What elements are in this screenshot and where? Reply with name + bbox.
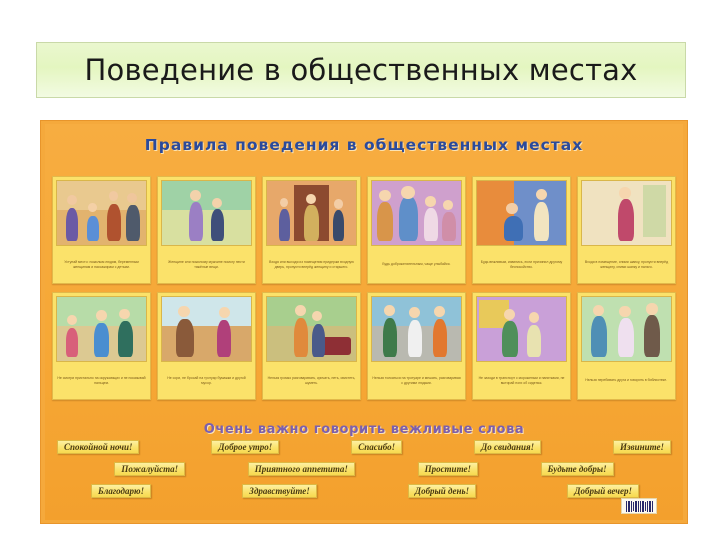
- art-figure-head: [646, 303, 658, 315]
- slide-title-box: Поведение в общественных местах: [36, 42, 686, 98]
- rule-card: Входя в помещение, сними шапку, пропусти…: [577, 176, 676, 284]
- barcode-bar: [640, 501, 641, 512]
- art-figure: [304, 205, 318, 241]
- rule-card: Не сори, не бросай на тротуар бумажки и …: [157, 292, 256, 400]
- polite-word-chip: Добрый день!: [408, 484, 476, 498]
- rule-card: Нельзя перебивать друга и говорить в биб…: [577, 292, 676, 400]
- art-figure-head: [67, 315, 77, 325]
- rule-caption: Не сори, не бросай на тротуар бумажки и …: [161, 362, 252, 399]
- art-figure: [66, 328, 78, 357]
- art-rack: [643, 185, 666, 237]
- rule-illustration: [581, 296, 672, 362]
- rule-caption-text: Уступай место: пожилым людям, беременным…: [57, 260, 146, 269]
- rule-caption: Женщине или пожилому мужчине помогу нест…: [161, 246, 252, 283]
- art-figure-head: [506, 203, 518, 215]
- polite-word-chip: Извините!: [613, 440, 671, 454]
- rule-illustration: [476, 296, 567, 362]
- rules-poster: Правила поведения в общественных местах: [40, 120, 688, 524]
- art-figure-head: [434, 306, 445, 317]
- rule-card: Не смотри пристально на окружающих и не …: [52, 292, 151, 400]
- rule-illustration: [161, 296, 252, 362]
- rule-card: Нельзя громко разговаривать, кричать, пе…: [262, 292, 361, 400]
- rule-illustration: [266, 296, 357, 362]
- art-figure-head: [306, 194, 316, 204]
- rule-caption-text: Женщине или пожилому мужчине помогу нест…: [162, 260, 251, 269]
- rule-caption-text: Не заходи в транспорт с мороженым и напи…: [477, 376, 566, 385]
- polite-words-heading: Очень важно говорить вежливые слова: [45, 420, 683, 438]
- barcode-bar: [638, 501, 639, 512]
- art-figure: [502, 321, 518, 357]
- barcode: [621, 498, 657, 514]
- polite-word-chip: До свидания!: [474, 440, 541, 454]
- art-figure: [591, 316, 607, 357]
- art-figure-head: [401, 186, 414, 199]
- art-figure-head: [295, 305, 306, 316]
- polite-word-chip: Добрый вечер!: [567, 484, 639, 498]
- art-background: [162, 181, 251, 210]
- art-figure: [279, 209, 290, 241]
- art-figure: [618, 318, 634, 358]
- art-figure: [217, 320, 231, 357]
- rule-caption-text: Нельзя толкаться на тротуаре и мешать, р…: [372, 376, 461, 385]
- art-figure: [527, 325, 541, 357]
- art-foreground: [162, 210, 251, 245]
- poster-inner: Правила поведения в общественных местах: [45, 124, 683, 520]
- barcode-bar: [645, 502, 646, 511]
- rule-caption-text: Будь доброжелательным, чаще улыбайся.: [382, 262, 450, 267]
- art-figure-head: [384, 305, 395, 316]
- rule-illustration: [266, 180, 357, 246]
- polite-words-heading-text: Очень важно говорить вежливые слова: [204, 422, 525, 437]
- polite-words-row-2: Пожалуйста! Приятного аппетита! Простите…: [55, 462, 673, 476]
- art-figure-head: [219, 307, 230, 318]
- art-figure: [176, 319, 194, 357]
- art-figure: [504, 216, 524, 242]
- polite-word-chip: Приятного аппетита!: [248, 462, 355, 476]
- rule-caption: Нельзя громко разговаривать, кричать, пе…: [266, 362, 357, 399]
- rule-caption: Будь доброжелательным, чаще улыбайся.: [371, 246, 462, 283]
- rule-illustration: [56, 180, 147, 246]
- polite-word-chip: Доброе утро!: [211, 440, 279, 454]
- art-figure: [383, 318, 397, 358]
- art-figure-head: [425, 196, 436, 206]
- rule-card: Входя или выходя из помещения придержи в…: [262, 176, 361, 284]
- page-title: Поведение в общественных местах: [85, 53, 638, 87]
- rule-caption-text: Нельзя громко разговаривать, кричать, пе…: [267, 376, 356, 385]
- rules-row-1: Уступай место: пожилым людям, беременным…: [52, 176, 676, 284]
- poster-heading-text: Правила поведения в общественных местах: [145, 136, 584, 154]
- slide: Поведение в общественных местах Правила …: [0, 0, 720, 540]
- art-figure: [87, 216, 99, 242]
- rule-illustration: [476, 180, 567, 246]
- barcode-bar: [635, 501, 637, 512]
- art-figure: [399, 196, 419, 241]
- polite-word-chip: Благодарю!: [91, 484, 151, 498]
- polite-words-row-1: Спокойной ночи! Доброе утро! Спасибо! До…: [55, 440, 673, 454]
- rule-caption: Входя или выходя из помещения придержи в…: [266, 246, 357, 283]
- art-figure-head: [443, 200, 453, 210]
- rule-caption: Уступай место: пожилым людям, беременным…: [56, 246, 147, 283]
- rule-card: Уступай место: пожилым людям, беременным…: [52, 176, 151, 284]
- art-background: [162, 297, 251, 326]
- rule-caption-text: Не смотри пристально на окружающих и не …: [57, 376, 146, 385]
- art-figure-head: [190, 190, 201, 201]
- barcode-bar: [633, 502, 634, 511]
- art-figure-head: [280, 198, 288, 207]
- rule-illustration: [56, 296, 147, 362]
- polite-word-chip: Спасибо!: [351, 440, 402, 454]
- art-figure: [189, 202, 203, 242]
- rule-illustration: [581, 180, 672, 246]
- barcode-bar: [628, 501, 630, 512]
- art-figure: [377, 202, 393, 242]
- rule-illustration: [371, 180, 462, 246]
- art-figure: [118, 321, 133, 357]
- art-figure: [424, 208, 438, 241]
- art-figure: [211, 209, 224, 241]
- polite-word-chip: Простите!: [418, 462, 478, 476]
- polite-word-chip: Спокойной ночи!: [57, 440, 139, 454]
- art-figure: [442, 212, 455, 241]
- barcode-bar: [649, 501, 651, 512]
- rule-card: Нельзя толкаться на тротуаре и мешать, р…: [367, 292, 466, 400]
- art-background: [267, 297, 356, 326]
- rule-caption: Не заходи в транспорт с мороженым и напи…: [476, 362, 567, 399]
- barcode-bar: [647, 501, 648, 512]
- rule-caption: Нельзя перебивать друга и говорить в биб…: [581, 362, 672, 399]
- poster-heading: Правила поведения в общественных местах: [45, 136, 683, 155]
- rules-row-2: Не смотри пристально на окружающих и не …: [52, 292, 676, 400]
- art-figure: [66, 208, 78, 241]
- art-figure-head: [619, 187, 631, 199]
- polite-word-chip: Будьте добры!: [541, 462, 614, 476]
- art-figure: [408, 320, 422, 357]
- barcode-bar: [642, 501, 644, 512]
- art-figure: [94, 323, 108, 358]
- art-figure-head: [212, 198, 222, 208]
- polite-word-chip: Пожалуйста!: [114, 462, 185, 476]
- rule-illustration: [371, 296, 462, 362]
- rule-illustration: [161, 180, 252, 246]
- art-figure: [294, 318, 308, 358]
- art-figure: [333, 210, 345, 241]
- rule-caption-text: Входя или выходя из помещения придержи в…: [267, 260, 356, 269]
- rule-caption: Входя в помещение, сними шапку, пропусти…: [581, 246, 672, 283]
- art-figure: [618, 199, 634, 241]
- art-figure-head: [127, 193, 137, 203]
- art-figure: [312, 324, 325, 357]
- rule-caption-text: Не сори, не бросай на тротуар бумажки и …: [162, 376, 251, 385]
- rule-card: Не заходи в транспорт с мороженым и напи…: [472, 292, 571, 400]
- rule-caption: Нельзя толкаться на тротуаре и мешать, р…: [371, 362, 462, 399]
- polite-word-chip: Здравствуйте!: [242, 484, 316, 498]
- art-figure: [433, 319, 447, 357]
- rules-grid: Уступай место: пожилым людям, беременным…: [52, 176, 676, 400]
- rule-card: Женщине или пожилому мужчине помогу нест…: [157, 176, 256, 284]
- rule-caption-text: Входя в помещение, сними шапку, пропусти…: [582, 260, 671, 269]
- rule-caption: Не смотри пристально на окружающих и не …: [56, 362, 147, 399]
- art-figure-head: [178, 306, 190, 318]
- barcode-bar: [631, 501, 632, 512]
- polite-words-row-3: Благодарю! Здравствуйте! Добрый день! До…: [55, 484, 673, 498]
- rule-caption: Будь вежливым, извинись, если причинил д…: [476, 246, 567, 283]
- art-figure-head: [96, 310, 107, 321]
- art-figure: [644, 315, 660, 357]
- art-figure: [126, 205, 139, 241]
- rule-caption-text: Будь вежливым, извинись, если причинил д…: [477, 260, 566, 269]
- rule-caption-text: Нельзя перебивать друга и говорить в биб…: [586, 378, 668, 383]
- art-figure: [107, 204, 121, 241]
- rule-card: Будь вежливым, извинись, если причинил д…: [472, 176, 571, 284]
- rule-card: Будь доброжелательным, чаще улыбайся.: [367, 176, 466, 284]
- art-figure-head: [67, 195, 77, 205]
- barcode-bar: [626, 501, 627, 512]
- barcode-bar: [652, 501, 653, 512]
- art-figure-head: [334, 199, 343, 209]
- art-figure: [534, 202, 549, 242]
- polite-words-list: Спокойной ночи! Доброе утро! Спасибо! До…: [55, 440, 673, 498]
- art-figure-head: [379, 190, 391, 202]
